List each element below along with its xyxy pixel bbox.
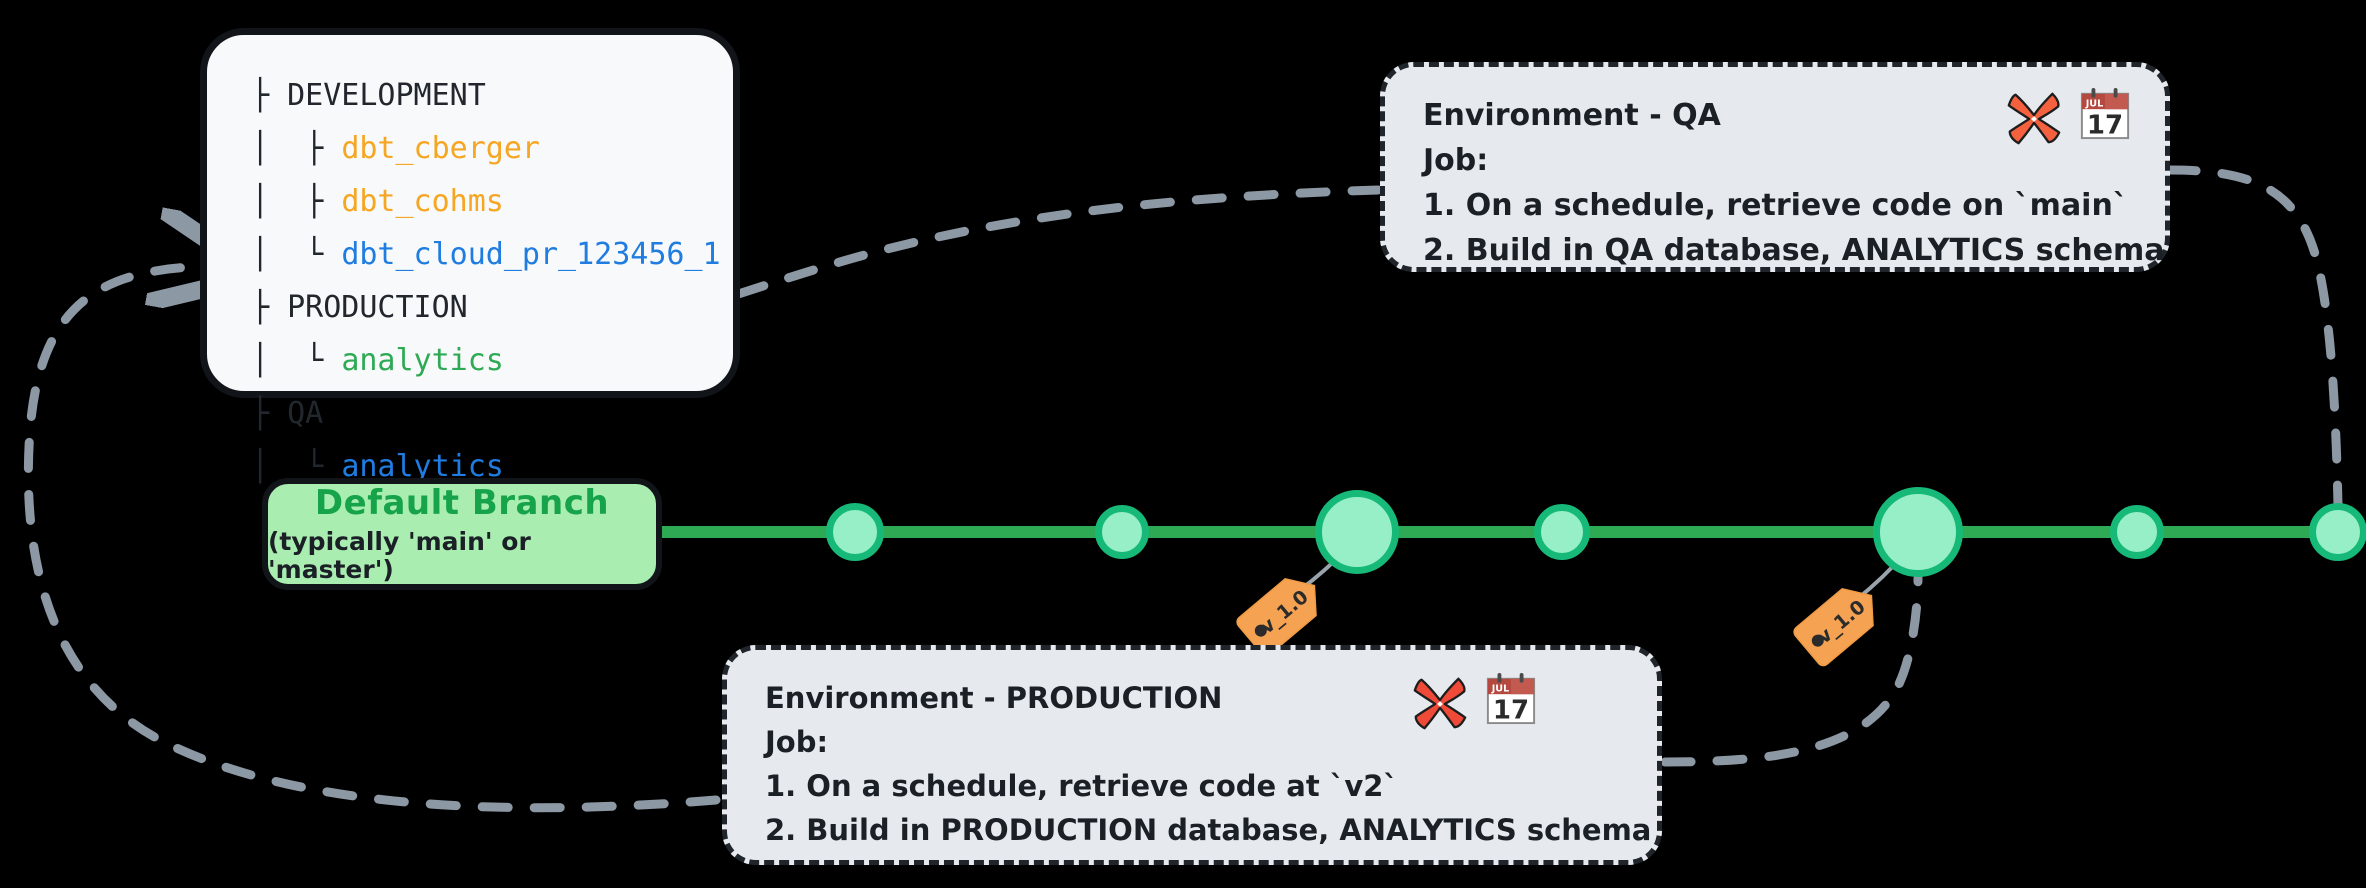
tree-row-dbt-cohms: │ ├ dbt_cohms (251, 175, 733, 228)
production-environment-callout: Environment - PRODUCTION Job: 1. On a sc… (722, 645, 1662, 865)
commit-node[interactable] (2309, 503, 2366, 561)
tree-label-production-analytics[interactable]: analytics (341, 343, 504, 378)
tree-prefix: ├ (251, 396, 287, 431)
tree-row-qa: ├ QA (251, 387, 733, 440)
calendar-month-label: JUL (1491, 683, 1510, 694)
commit-node[interactable] (826, 503, 884, 561)
commit-node-tagged[interactable] (1315, 490, 1399, 574)
commit-node[interactable] (2110, 505, 2164, 559)
calendar-day-label: 17 (1493, 695, 1529, 725)
commit-node-tagged[interactable] (1873, 487, 1963, 577)
wire-qa-to-head-commit (2170, 170, 2338, 505)
tree-label-dbt-cloud-pr[interactable]: dbt_cloud_pr_123456_1 (341, 237, 720, 272)
tree-prefix: │ └ (251, 237, 341, 272)
version-tag-2[interactable]: v_1.0 (1785, 582, 1895, 656)
tree-row-development: ├ DEVELOPMENT (251, 69, 733, 122)
tree-label-dbt-cberger[interactable]: dbt_cberger (341, 131, 540, 166)
cross-mark-icon (1409, 672, 1471, 734)
tree-label-dbt-cohms[interactable]: dbt_cohms (341, 184, 504, 219)
default-branch-subtitle: (typically 'main' or 'master') (268, 528, 656, 583)
production-callout-step-1: 1. On a schedule, retrieve code at `v2` (765, 764, 1623, 808)
cross-mark-icon (2003, 87, 2065, 149)
diagram-canvas: ├ DEVELOPMENT │ ├ dbt_cberger │ ├ dbt_co… (0, 0, 2366, 888)
tree-label-development[interactable]: DEVELOPMENT (287, 78, 486, 113)
version-tag-1[interactable]: v_1.0 (1228, 572, 1338, 646)
default-branch-pill: Default Branch (typically 'main' or 'mas… (262, 478, 662, 590)
tree-row-production-analytics: │ └ analytics (251, 334, 733, 387)
calendar-icon: JUL 17 (2079, 87, 2131, 141)
tree-prefix: ├ (251, 290, 287, 325)
calendar-day-label: 17 (2087, 110, 2123, 140)
tree-prefix: │ └ (251, 343, 341, 378)
qa-callout-step-1: 1. On a schedule, retrieve code on `main… (1423, 183, 2131, 228)
tree-label-production[interactable]: PRODUCTION (287, 290, 468, 325)
tree-prefix: │ ├ (251, 184, 341, 219)
tree-prefix: │ ├ (251, 131, 341, 166)
production-callout-icons: JUL 17 (1409, 672, 1537, 734)
tree-row-production: ├ PRODUCTION (251, 281, 733, 334)
production-callout-step-2: 2. Build in PRODUCTION database, ANALYTI… (765, 808, 1623, 852)
calendar-month-label: JUL (2085, 98, 2104, 109)
commit-node[interactable] (1095, 505, 1149, 559)
qa-callout-step-2: 2. Build in QA database, ANALYTICS schem… (1423, 228, 2131, 273)
environment-folder-tree-card: ├ DEVELOPMENT │ ├ dbt_cberger │ ├ dbt_co… (200, 28, 740, 398)
tree-label-qa[interactable]: QA (287, 396, 323, 431)
qa-callout-icons: JUL 17 (2003, 87, 2131, 149)
tree-prefix: ├ (251, 78, 287, 113)
calendar-icon: JUL 17 (1485, 672, 1537, 726)
default-branch-title: Default Branch (315, 485, 609, 522)
commit-node[interactable] (1534, 504, 1590, 560)
qa-environment-callout: Environment - QA Job: 1. On a schedule, … (1380, 62, 2170, 272)
tree-row-dbt-cberger: │ ├ dbt_cberger (251, 122, 733, 175)
tree-row-dbt-cloud-pr: │ └ dbt_cloud_pr_123456_1 (251, 228, 733, 281)
